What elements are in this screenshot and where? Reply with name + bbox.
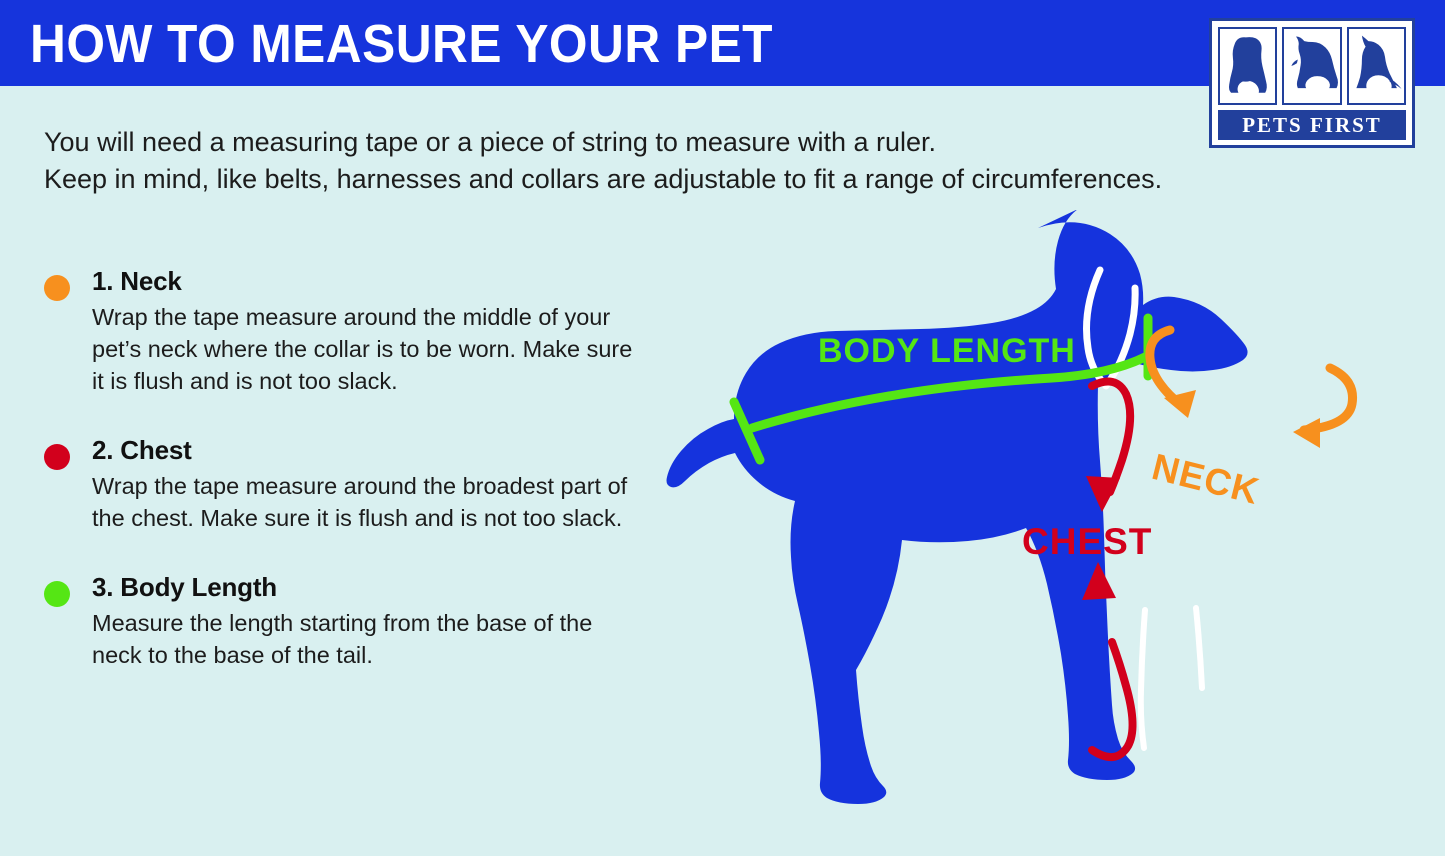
step-bullet-neck: [44, 275, 70, 301]
step-body-neck: 1. Neck Wrap the tape measure around the…: [42, 266, 642, 397]
dog-measurement-diagram: BODY LENGTH NECK CHEST: [630, 210, 1445, 856]
logo-panel-sitting-dog: [1218, 27, 1277, 105]
step-item-neck: 1. Neck Wrap the tape measure around the…: [42, 266, 642, 397]
page-title: HOW TO MEASURE YOUR PET: [30, 16, 773, 72]
step-description-body-length: Measure the length starting from the bas…: [92, 607, 642, 671]
infographic-page: HOW TO MEASURE YOUR PET PETS FIRST: [0, 0, 1445, 856]
step-description-neck: Wrap the tape measure around the middle …: [92, 301, 642, 397]
logo-panel-begging-dog: [1282, 27, 1341, 105]
step-item-body-length: 3. Body Length Measure the length starti…: [42, 572, 642, 671]
measurement-steps-list: 1. Neck Wrap the tape measure around the…: [42, 266, 642, 709]
step-title-body-length: 3. Body Length: [92, 572, 642, 603]
chest-label: CHEST: [1022, 521, 1152, 562]
step-body-body-length: 3. Body Length Measure the length starti…: [42, 572, 642, 671]
dog-front-leg-line: [1196, 608, 1202, 688]
intro-text: You will need a measuring tape or a piec…: [44, 124, 1274, 198]
step-title-chest: 2. Chest: [92, 435, 642, 466]
begging-dog-silhouette-icon: [1284, 29, 1339, 103]
step-bullet-body-length: [44, 581, 70, 607]
shepherd-dog-silhouette-icon: [1349, 29, 1404, 103]
neck-label: NECK: [1148, 446, 1264, 512]
step-title-neck: 1. Neck: [92, 266, 642, 297]
neck-arrow-right-head: [1293, 418, 1320, 448]
step-bullet-chest: [44, 444, 70, 470]
step-item-chest: 2. Chest Wrap the tape measure around th…: [42, 435, 642, 534]
logo-panel-shepherd-dog: [1347, 27, 1406, 105]
dog-hind-leg-line: [1141, 610, 1145, 748]
body-length-label: BODY LENGTH: [818, 332, 1076, 370]
sitting-dog-silhouette-icon: [1220, 29, 1275, 103]
logo-panel-row: [1218, 27, 1406, 105]
intro-line-2: Keep in mind, like belts, harnesses and …: [44, 161, 1274, 198]
dog-silhouette: [667, 210, 1248, 804]
step-description-chest: Wrap the tape measure around the broades…: [92, 470, 642, 534]
step-body-chest: 2. Chest Wrap the tape measure around th…: [42, 435, 642, 534]
intro-line-1: You will need a measuring tape or a piec…: [44, 124, 1274, 161]
